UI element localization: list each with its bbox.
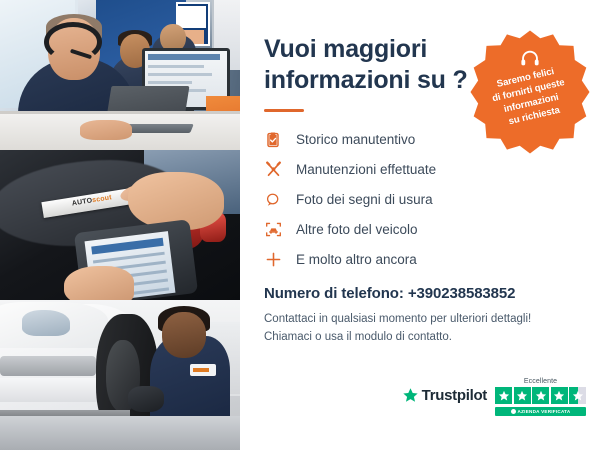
mechanic-head	[162, 312, 206, 358]
star-icon	[551, 387, 568, 404]
contact-line-2: Chiamaci o usa il modulo di contatto.	[264, 329, 576, 347]
bumper-shape	[0, 378, 106, 402]
list-item-label: E molto altro ancora	[296, 252, 417, 267]
photo-call-center	[0, 0, 240, 150]
mechanic-glove	[128, 386, 164, 412]
title-underline-rule	[264, 109, 304, 112]
trustpilot-name: Trustpilot	[422, 387, 487, 404]
agent-headset-icon	[44, 22, 102, 62]
tools-cross-icon	[264, 161, 282, 179]
poster-inner-shape	[176, 6, 206, 28]
check-circle-icon	[511, 409, 516, 414]
trustpilot-widget[interactable]: Trustpilot Eccellente AZIENDA VERIFICATA	[402, 378, 586, 416]
callout-badge: Saremo felici di fornirti queste informa…	[466, 28, 594, 156]
workbench-shape	[0, 416, 240, 450]
list-item-label: Storico manutentivo	[296, 132, 415, 147]
list-item: E molto altro ancora	[264, 250, 576, 269]
uniform-logo-patch	[190, 364, 216, 376]
star-icon	[514, 387, 531, 404]
photo-damage-inspection: AUTOscout	[0, 150, 240, 300]
photo-column: AUTOscout	[0, 0, 240, 450]
page-title: Vuoi maggiori informazioni su ?	[264, 34, 479, 95]
ruler-brand-text: AUTOscout	[71, 194, 112, 207]
phone-number-label[interactable]: Numero di telefono: +390238583852	[264, 285, 576, 302]
contact-instructions: Contattaci in qualsiasi momento per ulte…	[264, 311, 576, 347]
callout-badge-text: Saremo felici di fornirti queste informa…	[477, 62, 582, 134]
headlight-shape	[22, 310, 70, 336]
search-bubble-icon	[264, 191, 282, 209]
verified-label: AZIENDA VERIFICATA	[518, 409, 571, 414]
list-item-label: Altre foto del veicolo	[296, 222, 418, 237]
trustpilot-stars	[495, 387, 586, 404]
list-item-label: Foto dei segni di usura	[296, 192, 433, 207]
car-scan-icon	[264, 221, 282, 239]
verified-business-badge: AZIENDA VERIFICATA	[495, 407, 586, 416]
clipboard-check-icon	[264, 131, 282, 149]
grille-shape	[0, 356, 96, 376]
contact-line-1: Contattaci in qualsiasi momento per ulte…	[264, 311, 576, 329]
trustpilot-rating: Eccellente AZIENDA VERIFICATA	[495, 378, 586, 416]
content-panel: Vuoi maggiori informazioni su ? Storico …	[240, 0, 600, 450]
star-icon	[532, 387, 549, 404]
list-item: Altre foto del veicolo	[264, 220, 576, 239]
trustpilot-logo: Trustpilot	[402, 378, 487, 404]
star-icon	[495, 387, 512, 404]
list-item: Foto dei segni di usura	[264, 190, 576, 209]
photo-mechanic-wheel	[0, 300, 240, 450]
list-item-label: Manutenzioni effettuate	[296, 162, 436, 177]
plus-icon	[264, 251, 282, 269]
agent-hands	[80, 120, 132, 140]
trustpilot-rating-label: Eccellente	[524, 378, 557, 385]
list-item: Manutenzioni effettuate	[264, 160, 576, 179]
promo-panel: AUTOscout	[0, 0, 600, 450]
callout-badge-content: Saremo felici di fornirti queste informa…	[466, 28, 594, 156]
headset-icon	[519, 48, 541, 70]
hand-lower	[64, 266, 134, 300]
trustpilot-star-icon	[402, 387, 419, 404]
star-icon-partial	[569, 387, 586, 404]
